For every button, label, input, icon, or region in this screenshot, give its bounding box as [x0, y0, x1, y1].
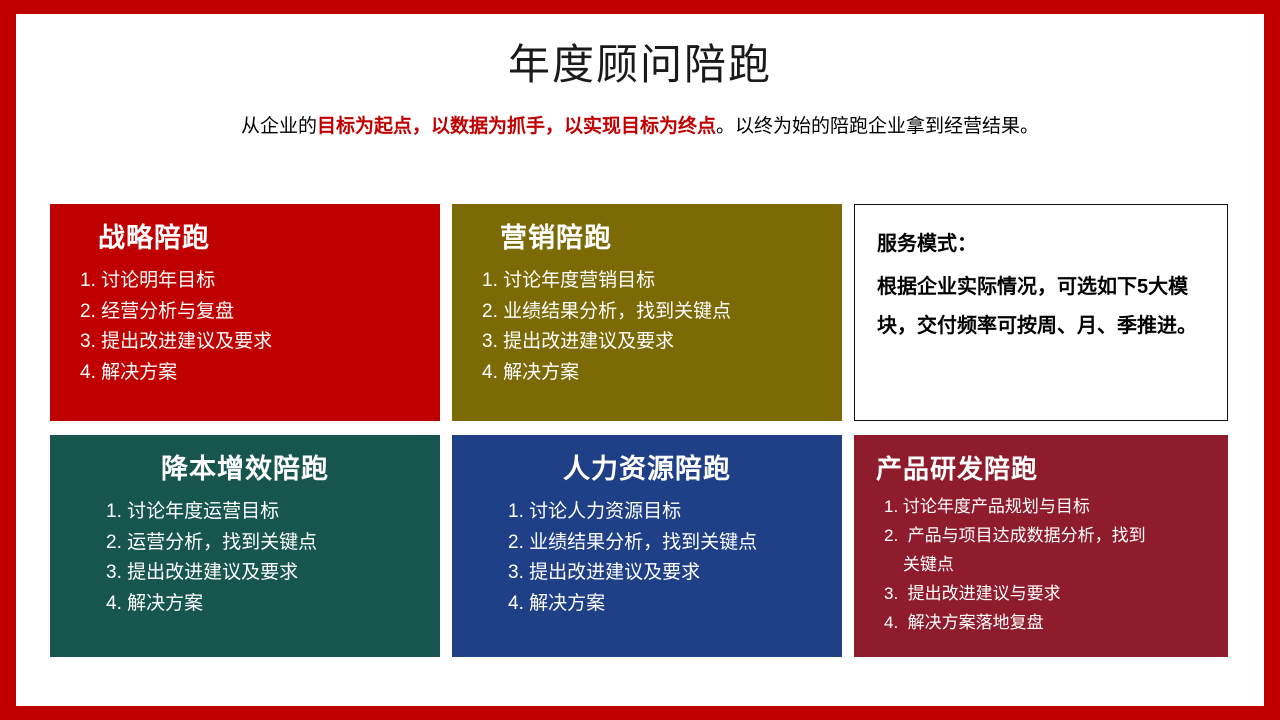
card-cost-efficiency-title: 降本增效陪跑: [72, 453, 418, 487]
list-item: 4. 解决方案: [508, 589, 820, 620]
list-item: 3. 提出改进建议及要求: [508, 558, 820, 589]
subtitle: 从企业的目标为起点，以数据为抓手，以实现目标为终点。以终为始的陪跑企业拿到经营结…: [16, 114, 1264, 141]
page-title: 年度顾问陪跑: [16, 40, 1264, 90]
list-item: 2. 运营分析，找到关键点: [106, 528, 418, 559]
card-marketing-title: 营销陪跑: [474, 222, 820, 256]
card-hr-title: 人力资源陪跑: [474, 453, 820, 487]
list-item: 3. 提出改进建议及要求: [106, 558, 418, 589]
cards-grid: 战略陪跑 1. 讨论明年目标 2. 经营分析与复盘 3. 提出改进建议及要求 4…: [50, 204, 1230, 657]
card-cost-efficiency-list: 1. 讨论年度运营目标 2. 运营分析，找到关键点 3. 提出改进建议及要求 4…: [72, 497, 418, 620]
service-mode-note: 服务模式： 根据企业实际情况，可选如下5大模块，交付频率可按周、月、季推进。: [854, 204, 1228, 421]
card-product-rnd-list: 1. 讨论年度产品规划与目标 2. 产品与项目达成数据分析，找到 关键点 3. …: [876, 492, 1206, 638]
card-product-rnd[interactable]: 产品研发陪跑 1. 讨论年度产品规划与目标 2. 产品与项目达成数据分析，找到 …: [854, 435, 1228, 657]
card-strategy-title: 战略陪跑: [72, 222, 418, 256]
list-item: 1. 讨论年度产品规划与目标: [884, 492, 1206, 521]
note-title: 服务模式：: [877, 225, 1205, 264]
card-hr-list: 1. 讨论人力资源目标 2. 业绩结果分析，找到关键点 3. 提出改进建议及要求…: [474, 497, 820, 620]
list-item: 4. 解决方案: [80, 358, 418, 389]
list-item: 3. 提出改进建议与要求: [884, 579, 1206, 608]
card-strategy-list: 1. 讨论明年目标 2. 经营分析与复盘 3. 提出改进建议及要求 4. 解决方…: [72, 266, 418, 389]
card-marketing-list: 1. 讨论年度营销目标 2. 业绩结果分析，找到关键点 3. 提出改进建议及要求…: [474, 266, 820, 389]
slide-header: 年度顾问陪跑 从企业的目标为起点，以数据为抓手，以实现目标为终点。以终为始的陪跑…: [16, 14, 1264, 141]
card-cost-efficiency[interactable]: 降本增效陪跑 1. 讨论年度运营目标 2. 运营分析，找到关键点 3. 提出改进…: [50, 435, 440, 657]
list-item: 1. 讨论明年目标: [80, 266, 418, 297]
list-item: 4. 解决方案落地复盘: [884, 608, 1206, 637]
list-item: 2. 业绩结果分析，找到关键点: [508, 528, 820, 559]
list-item: 1. 讨论人力资源目标: [508, 497, 820, 528]
subtitle-prefix: 从企业的: [241, 116, 317, 137]
slide: 年度顾问陪跑 从企业的目标为起点，以数据为抓手，以实现目标为终点。以终为始的陪跑…: [16, 14, 1264, 706]
card-product-rnd-title: 产品研发陪跑: [876, 453, 1206, 486]
note-body: 根据企业实际情况，可选如下5大模块，交付频率可按周、月、季推进。: [877, 268, 1205, 346]
card-strategy[interactable]: 战略陪跑 1. 讨论明年目标 2. 经营分析与复盘 3. 提出改进建议及要求 4…: [50, 204, 440, 421]
list-item: 1. 讨论年度运营目标: [106, 497, 418, 528]
list-item: 3. 提出改进建议及要求: [482, 327, 820, 358]
list-item: 2. 产品与项目达成数据分析，找到 关键点: [884, 521, 1206, 579]
card-marketing[interactable]: 营销陪跑 1. 讨论年度营销目标 2. 业绩结果分析，找到关键点 3. 提出改进…: [452, 204, 842, 421]
list-item: 4. 解决方案: [482, 358, 820, 389]
list-item: 2. 经营分析与复盘: [80, 297, 418, 328]
subtitle-suffix: 。以终为始的陪跑企业拿到经营结果。: [716, 116, 1039, 137]
list-item: 4. 解决方案: [106, 589, 418, 620]
list-item: 3. 提出改进建议及要求: [80, 327, 418, 358]
card-hr[interactable]: 人力资源陪跑 1. 讨论人力资源目标 2. 业绩结果分析，找到关键点 3. 提出…: [452, 435, 842, 657]
subtitle-highlight: 目标为起点，以数据为抓手，以实现目标为终点: [317, 116, 716, 137]
list-item: 2. 业绩结果分析，找到关键点: [482, 297, 820, 328]
list-item: 1. 讨论年度营销目标: [482, 266, 820, 297]
